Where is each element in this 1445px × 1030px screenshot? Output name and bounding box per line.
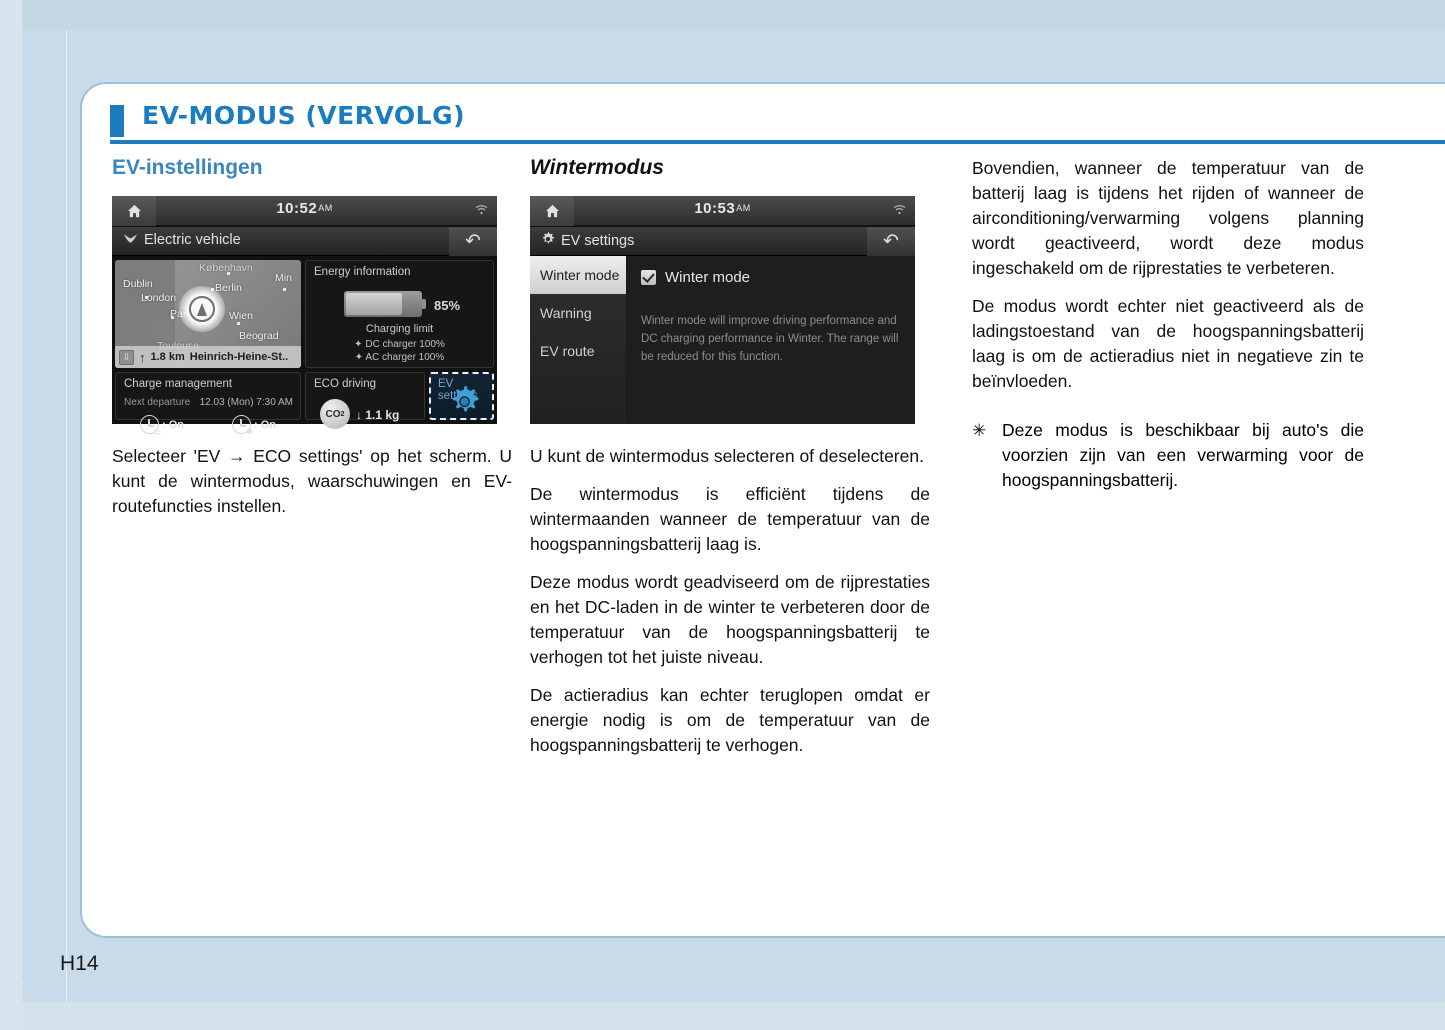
right-paragraph-1: Bovendien, wanneer de temperatuur van de…	[972, 156, 1364, 281]
note-text: Deze modus is beschikbaar bij auto's die…	[1002, 418, 1364, 493]
checkbox-icon[interactable]	[641, 270, 656, 285]
charge-timer-2[interactable]: ❄ : On	[232, 415, 276, 434]
co2-label: CO	[326, 409, 341, 420]
eco-tile-title: ECO driving	[314, 378, 376, 390]
settings-detail-pane: Winter mode Winter mode will improve dri…	[627, 256, 915, 424]
wifi-icon	[893, 205, 906, 218]
map-city-label: Beograd	[239, 330, 279, 342]
ac-charger-limit: ✦ AC charger 100%	[306, 352, 493, 363]
page-bleed-bottom	[22, 1002, 1445, 1030]
status-clock-ampm: AM	[318, 203, 333, 213]
status-clock: 10:52AM	[112, 200, 497, 217]
title-bar: Electric vehicle ↶	[112, 227, 497, 256]
section-heading-wintermodus: Wintermodus	[530, 156, 930, 180]
route-street-name: Heinrich-Heine-St..	[190, 351, 288, 363]
middle-paragraph-2: De wintermodus is efficiënt tijdens de w…	[530, 482, 930, 557]
map-dot	[227, 272, 230, 275]
section-heading-ev-instellingen: EV-instellingen	[112, 156, 512, 180]
eco-driving-tile[interactable]: ECO driving CO2 ↓ 1.1 kg	[305, 372, 425, 420]
settings-body: Winter mode Warning EV route Winter mode…	[530, 256, 915, 424]
energy-tile-title: Energy information	[314, 266, 411, 278]
direction-arrow-icon: ↑	[139, 350, 146, 365]
map-landmass	[149, 320, 173, 340]
page-number: H14	[60, 952, 99, 976]
left-paragraph-1: Selecteer 'EV → ECO settings' op het sch…	[112, 444, 512, 519]
middle-paragraph-4: De actieradius kan echter teruglopen omd…	[530, 683, 930, 758]
dc-charger-limit: ✦ DC charger 100%	[306, 339, 493, 350]
back-arrow-icon[interactable]: ↶	[867, 227, 915, 256]
charge-timer-1-value: : On	[162, 419, 184, 431]
status-clock-time: 10:52	[276, 200, 317, 217]
nav-item-warning[interactable]: Warning	[530, 294, 626, 332]
page-title: EV-MODUS (VERVOLG)	[142, 101, 465, 130]
title-bar-label-group: EV settings	[541, 232, 634, 250]
middle-paragraph-3: Deze modus wordt geadviseerd om de rijpr…	[530, 570, 930, 670]
settings-nav-list: Winter mode Warning EV route	[530, 256, 626, 424]
battery-percent: 85%	[434, 285, 460, 317]
column-middle: Wintermodus 10:53AM	[530, 156, 930, 758]
charge-timer-1[interactable]: ⚏ : On	[140, 415, 184, 434]
column-left: EV-instellingen 10:52AM	[112, 156, 512, 519]
leaf-icon	[123, 232, 138, 248]
map-city-label: Min	[275, 272, 292, 284]
column-right: Bovendien, wanneer de temperatuur van de…	[972, 156, 1364, 493]
battery-percent-value: 85	[434, 298, 448, 313]
asterisk-icon: ✳	[972, 418, 986, 443]
middle-paragraph-1: U kunt de wintermodus selecteren of dese…	[530, 444, 930, 469]
wifi-icon	[475, 205, 488, 218]
page-bleed-left	[0, 0, 22, 1030]
nav-item-ev-route[interactable]: EV route	[530, 332, 626, 370]
clock-plug-icon: ⚏	[140, 415, 159, 434]
winter-mode-description: Winter mode will improve driving perform…	[641, 312, 901, 366]
status-bar: 10:52AM	[112, 196, 497, 226]
title-bar-title: Electric vehicle	[144, 232, 241, 248]
charge-tile-title: Charge management	[124, 378, 232, 390]
gear-icon	[541, 232, 555, 250]
map-dot	[283, 288, 286, 291]
chapter-header: EV-MODUS (VERVOLG)	[110, 104, 1445, 144]
page-guide-line	[66, 30, 67, 1030]
status-clock-time: 10:53	[694, 200, 735, 217]
map-dot	[145, 296, 148, 299]
map-dot	[237, 322, 240, 325]
ev-settings-tile[interactable]: EV settings	[429, 372, 494, 420]
screenshot-ev-settings: 10:53AM EV settings ↶	[530, 196, 915, 424]
status-clock-ampm: AM	[736, 203, 751, 213]
content-panel: EV-MODUS (VERVOLG) EV-instellingen 10:52…	[80, 82, 1445, 938]
corner-mark-top	[22, 0, 70, 48]
map-route-bar: ⇩ ↑ 1.8 km Heinrich-Heine-St..	[115, 346, 301, 368]
map-dot	[171, 316, 174, 319]
nav-item-winter-mode[interactable]: Winter mode	[530, 256, 626, 294]
map-city-label: Berlin	[215, 282, 242, 294]
status-bar: 10:53AM	[530, 196, 915, 226]
title-bar-title: EV settings	[561, 233, 634, 249]
corner-mark-bottom	[22, 982, 70, 1030]
download-icon: ⇩	[119, 350, 134, 365]
eco-co2-value: ↓ 1.1 kg	[356, 408, 399, 422]
map-city-label: København	[199, 262, 253, 274]
chapter-accent-bar	[110, 105, 124, 137]
title-bar: EV settings ↶	[530, 227, 915, 256]
percent-symbol: %	[448, 298, 460, 313]
map-city-label: Wien	[229, 310, 253, 322]
home-tiles-grid: Dublin London Berlin København Min Paris…	[115, 260, 494, 420]
status-clock: 10:53AM	[530, 200, 915, 217]
screenshot-ev-home: 10:52AM Electric vehicle ↶	[112, 196, 497, 424]
charge-timer-2-value: : On	[254, 419, 276, 431]
eco-co2-value-text: 1.1 kg	[365, 408, 399, 422]
charge-management-tile[interactable]: Charge management Next departure 12.03 (…	[115, 372, 301, 420]
dc-charger-limit-text: DC charger 100%	[365, 339, 444, 350]
gear-icon	[448, 386, 480, 423]
map-city-label: Dublin	[123, 278, 153, 290]
page-bleed-top	[22, 0, 1445, 30]
next-departure-value: 12.03 (Mon) 7:30 AM	[200, 397, 293, 408]
energy-information-tile[interactable]: Energy information 85% Charging limit ✦ …	[305, 260, 494, 368]
clock-climate-icon: ❄	[232, 415, 251, 434]
battery-icon	[344, 291, 422, 317]
ac-charger-limit-text: AC charger 100%	[365, 352, 444, 363]
note-block: ✳ Deze modus is beschikbaar bij auto's d…	[972, 418, 1364, 493]
back-arrow-icon[interactable]: ↶	[449, 227, 497, 256]
timer-row: ⚏ : On ❄ : On	[116, 415, 300, 434]
title-bar-label-group: Electric vehicle	[123, 232, 241, 248]
route-distance: 1.8 km	[151, 351, 185, 363]
next-departure-label: Next departure	[124, 397, 190, 408]
chapter-underline	[110, 140, 1445, 144]
winter-mode-checkbox-row[interactable]: Winter mode	[641, 269, 750, 286]
vehicle-position-marker	[179, 286, 225, 332]
map-tile[interactable]: Dublin London Berlin København Min Paris…	[115, 260, 301, 368]
co2-subscript: 2	[341, 411, 345, 418]
right-paragraph-2: De modus wordt echter niet geactiveerd a…	[972, 294, 1364, 394]
co2-icon: CO2	[320, 399, 350, 429]
charging-limit-label: Charging limit	[306, 323, 493, 335]
winter-mode-checkbox-label: Winter mode	[665, 269, 750, 286]
